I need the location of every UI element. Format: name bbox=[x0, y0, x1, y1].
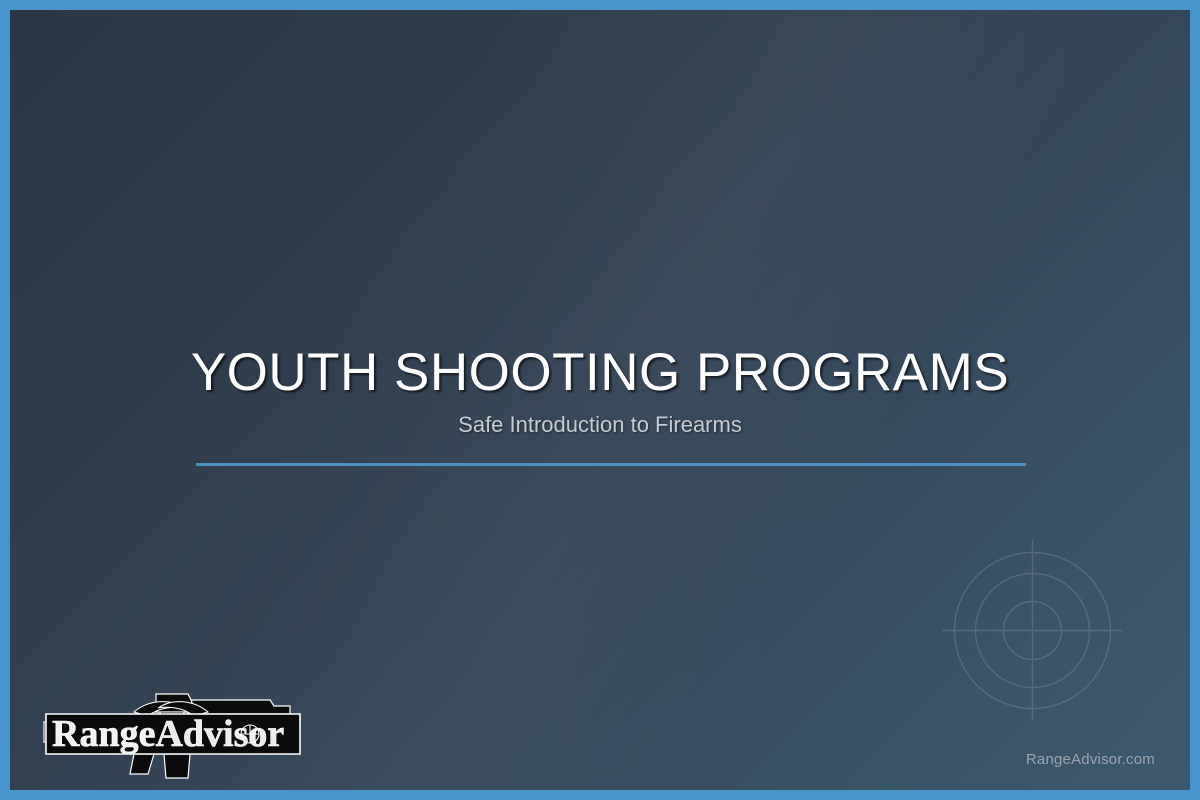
rifle-logo-icon: RangeAdvisor bbox=[38, 678, 308, 783]
accent-divider bbox=[196, 463, 1026, 466]
page-title: YOUTH SHOOTING PROGRAMS bbox=[10, 346, 1190, 400]
brand-logo[interactable]: RangeAdvisor bbox=[38, 678, 308, 783]
title-block: YOUTH SHOOTING PROGRAMS Safe Introductio… bbox=[10, 346, 1190, 438]
target-crosshair-icon bbox=[940, 538, 1125, 723]
footer-website-url: RangeAdvisor.com bbox=[1026, 751, 1155, 768]
presentation-slide: YOUTH SHOOTING PROGRAMS Safe Introductio… bbox=[0, 0, 1200, 800]
page-subtitle: Safe Introduction to Firearms bbox=[10, 412, 1190, 438]
